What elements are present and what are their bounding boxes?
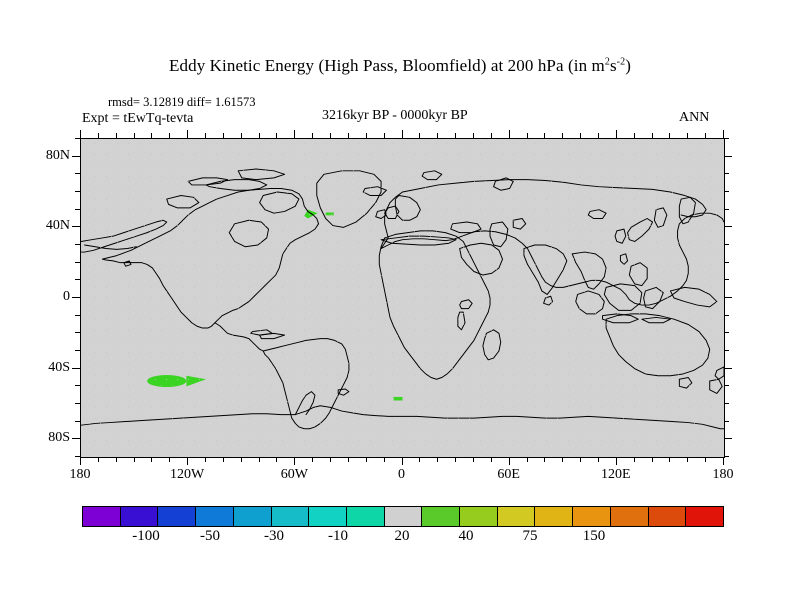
y-tick-left-60 bbox=[75, 191, 80, 192]
y-axis-label-3: 40S bbox=[22, 360, 70, 376]
x-tick-bottom--80 bbox=[259, 457, 260, 462]
x-tick-top-30 bbox=[455, 133, 456, 138]
x-axis-label-5: 120E bbox=[601, 467, 631, 483]
colorbar-cell-15[interactable] bbox=[649, 507, 687, 526]
x-tick-bottom-140 bbox=[652, 457, 653, 462]
x-tick-bottom-60 bbox=[509, 457, 510, 465]
y-tick-left--20 bbox=[75, 332, 80, 333]
colorbar-label-5: 40 bbox=[459, 528, 474, 545]
time-period-label: 3216kyr BP - 0000kyr BP bbox=[322, 108, 468, 124]
colorbar-label-2: -30 bbox=[264, 528, 284, 545]
x-tick-top-150 bbox=[669, 133, 670, 138]
x-tick-top--160 bbox=[116, 133, 117, 138]
x-tick-bottom--40 bbox=[330, 457, 331, 462]
map-plot-area bbox=[80, 138, 725, 458]
y-tick-right--10 bbox=[724, 315, 729, 316]
x-tick-bottom--60 bbox=[294, 457, 295, 465]
y-tick-right--50 bbox=[724, 385, 729, 386]
y-tick-right--80 bbox=[724, 438, 732, 439]
x-tick-top-110 bbox=[598, 133, 599, 138]
x-tick-bottom--30 bbox=[348, 457, 349, 462]
x-tick-bottom-80 bbox=[544, 457, 545, 462]
colorbar-cell-14[interactable] bbox=[611, 507, 649, 526]
title-close-paren: ) bbox=[625, 56, 631, 75]
x-axis-label-6: 180 bbox=[713, 467, 734, 483]
y-tick-right--40 bbox=[724, 368, 732, 369]
x-tick-bottom--160 bbox=[116, 457, 117, 462]
y-tick-right-10 bbox=[724, 279, 729, 280]
y-tick-right--90 bbox=[724, 456, 729, 457]
colorbar-label-0: -100 bbox=[132, 528, 160, 545]
x-tick-bottom--180 bbox=[80, 457, 81, 465]
x-tick-bottom--150 bbox=[134, 457, 135, 462]
y-tick-left-70 bbox=[75, 173, 80, 174]
y-axis-label-1: 40N bbox=[22, 218, 70, 234]
y-tick-right--60 bbox=[724, 403, 729, 404]
x-tick-top--70 bbox=[276, 133, 277, 138]
y-tick-right-90 bbox=[724, 138, 729, 139]
colorbar-label-4: 20 bbox=[395, 528, 410, 545]
colorbar-cell-1[interactable] bbox=[121, 507, 159, 526]
x-tick-top-180 bbox=[723, 130, 724, 138]
x-tick-top-40 bbox=[473, 133, 474, 138]
x-tick-top-120 bbox=[616, 130, 617, 138]
x-tick-top-20 bbox=[437, 133, 438, 138]
x-tick-bottom-30 bbox=[455, 457, 456, 462]
x-tick-top--150 bbox=[134, 133, 135, 138]
x-tick-top--100 bbox=[223, 133, 224, 138]
y-tick-left-10 bbox=[75, 279, 80, 280]
x-axis-label-4: 60E bbox=[497, 467, 520, 483]
y-tick-right--30 bbox=[724, 350, 729, 351]
x-tick-top--90 bbox=[241, 133, 242, 138]
x-tick-bottom-130 bbox=[634, 457, 635, 462]
title-s: s bbox=[610, 56, 617, 75]
y-tick-right-80 bbox=[724, 156, 732, 157]
colorbar-cell-10[interactable] bbox=[460, 507, 498, 526]
experiment-label: Expt = tEwTq-tevta bbox=[82, 111, 193, 127]
x-tick-top-100 bbox=[580, 133, 581, 138]
y-tick-left-20 bbox=[75, 262, 80, 263]
y-tick-right-20 bbox=[724, 262, 729, 263]
colorbar-label-3: -10 bbox=[328, 528, 348, 545]
y-tick-left-30 bbox=[75, 244, 80, 245]
y-tick-left-0 bbox=[72, 297, 80, 298]
colorbar-cell-3[interactable] bbox=[196, 507, 234, 526]
x-tick-bottom-100 bbox=[580, 457, 581, 462]
x-tick-top-10 bbox=[419, 133, 420, 138]
x-axis-label-1: 120W bbox=[170, 467, 204, 483]
x-tick-top--180 bbox=[80, 130, 81, 138]
x-tick-bottom-170 bbox=[705, 457, 706, 462]
x-tick-top-140 bbox=[652, 133, 653, 138]
map-background bbox=[81, 139, 724, 457]
x-tick-top--20 bbox=[366, 133, 367, 138]
y-tick-right-50 bbox=[724, 209, 729, 210]
page-title-text: Eddy Kinetic Energy (High Pass, Bloomfie… bbox=[169, 56, 605, 75]
x-tick-bottom-150 bbox=[669, 457, 670, 462]
colorbar[interactable] bbox=[82, 506, 724, 527]
x-tick-top--40 bbox=[330, 133, 331, 138]
y-tick-left--80 bbox=[72, 438, 80, 439]
x-tick-bottom--20 bbox=[366, 457, 367, 462]
x-tick-top--120 bbox=[187, 130, 188, 138]
x-tick-top-50 bbox=[491, 133, 492, 138]
y-tick-left-50 bbox=[75, 209, 80, 210]
x-tick-top-170 bbox=[705, 133, 706, 138]
title-superscript-minus2: -2 bbox=[617, 56, 626, 67]
x-tick-bottom--130 bbox=[169, 457, 170, 462]
x-tick-top-70 bbox=[527, 133, 528, 138]
x-tick-bottom--140 bbox=[151, 457, 152, 462]
x-tick-bottom--100 bbox=[223, 457, 224, 462]
y-tick-left-80 bbox=[72, 156, 80, 157]
x-axis-label-3: 0 bbox=[398, 467, 405, 483]
x-tick-bottom-20 bbox=[437, 457, 438, 462]
shaded-region-south-atlantic-dot bbox=[394, 397, 403, 401]
x-axis-label-2: 60W bbox=[281, 467, 308, 483]
colorbar-cell-5[interactable] bbox=[272, 507, 310, 526]
x-tick-bottom--170 bbox=[98, 457, 99, 462]
x-tick-top-0 bbox=[402, 130, 403, 138]
y-tick-left--70 bbox=[75, 421, 80, 422]
colorbar-label-1: -50 bbox=[200, 528, 220, 545]
colorbar-cell-2[interactable] bbox=[158, 507, 196, 526]
colorbar-cell-8[interactable] bbox=[385, 507, 423, 526]
x-tick-bottom-90 bbox=[562, 457, 563, 462]
x-tick-bottom--10 bbox=[384, 457, 385, 462]
y-tick-left-40 bbox=[72, 226, 80, 227]
x-tick-bottom-110 bbox=[598, 457, 599, 462]
shaded-region-south-pacific bbox=[147, 375, 186, 387]
x-tick-top--140 bbox=[151, 133, 152, 138]
x-tick-top--60 bbox=[294, 130, 295, 138]
x-tick-bottom-0 bbox=[402, 457, 403, 465]
x-tick-top-160 bbox=[687, 133, 688, 138]
rmsd-statistics-text: rmsd= 3.12819 diff= 1.61573 bbox=[108, 95, 256, 110]
x-tick-bottom-160 bbox=[687, 457, 688, 462]
y-tick-left--40 bbox=[72, 368, 80, 369]
x-tick-bottom--50 bbox=[312, 457, 313, 462]
colorbar-cell-12[interactable] bbox=[535, 507, 573, 526]
world-map-svg bbox=[81, 139, 724, 457]
x-axis-label-0: 180 bbox=[70, 467, 91, 483]
colorbar-label-6: 75 bbox=[523, 528, 538, 545]
colorbar-cell-9[interactable] bbox=[422, 507, 460, 526]
x-tick-top--80 bbox=[259, 133, 260, 138]
season-label: ANN bbox=[679, 110, 709, 126]
y-tick-left--30 bbox=[75, 350, 80, 351]
colorbar-cell-16[interactable] bbox=[686, 507, 723, 526]
x-tick-top--10 bbox=[384, 133, 385, 138]
x-tick-bottom-40 bbox=[473, 457, 474, 462]
colorbar-cell-4[interactable] bbox=[234, 507, 272, 526]
y-tick-right-0 bbox=[724, 297, 732, 298]
y-tick-right-30 bbox=[724, 244, 729, 245]
x-tick-bottom--110 bbox=[205, 457, 206, 462]
y-tick-left--90 bbox=[75, 456, 80, 457]
colorbar-label-7: 150 bbox=[583, 528, 606, 545]
colorbar-cell-0[interactable] bbox=[83, 507, 121, 526]
colorbar-cell-6[interactable] bbox=[309, 507, 347, 526]
x-tick-top-80 bbox=[544, 133, 545, 138]
colorbar-cell-11[interactable] bbox=[498, 507, 536, 526]
x-tick-bottom-10 bbox=[419, 457, 420, 462]
y-tick-right--20 bbox=[724, 332, 729, 333]
x-tick-top-130 bbox=[634, 133, 635, 138]
y-tick-right-70 bbox=[724, 173, 729, 174]
page-title: Eddy Kinetic Energy (High Pass, Bloomfie… bbox=[0, 56, 800, 76]
x-tick-bottom--90 bbox=[241, 457, 242, 462]
y-axis-label-4: 80S bbox=[22, 430, 70, 446]
colorbar-cell-7[interactable] bbox=[347, 507, 385, 526]
y-tick-right-40 bbox=[724, 226, 732, 227]
y-tick-left--50 bbox=[75, 385, 80, 386]
y-tick-left-90 bbox=[75, 138, 80, 139]
x-tick-top-60 bbox=[509, 130, 510, 138]
x-tick-bottom-50 bbox=[491, 457, 492, 462]
y-tick-left--60 bbox=[75, 403, 80, 404]
x-tick-top--170 bbox=[98, 133, 99, 138]
x-tick-bottom-70 bbox=[527, 457, 528, 462]
x-tick-top--50 bbox=[312, 133, 313, 138]
y-axis-label-0: 80N bbox=[22, 148, 70, 164]
y-tick-right--70 bbox=[724, 421, 729, 422]
x-tick-top-90 bbox=[562, 133, 563, 138]
x-tick-bottom-120 bbox=[616, 457, 617, 465]
shaded-region-north-atlantic-dot bbox=[326, 212, 334, 215]
y-tick-right-60 bbox=[724, 191, 729, 192]
x-tick-bottom-180 bbox=[723, 457, 724, 465]
x-tick-bottom--70 bbox=[276, 457, 277, 462]
y-axis-label-2: 0 bbox=[22, 289, 70, 305]
x-tick-top--30 bbox=[348, 133, 349, 138]
x-tick-bottom--120 bbox=[187, 457, 188, 465]
colorbar-cell-13[interactable] bbox=[573, 507, 611, 526]
x-tick-top--130 bbox=[169, 133, 170, 138]
y-tick-left--10 bbox=[75, 315, 80, 316]
x-tick-top--110 bbox=[205, 133, 206, 138]
